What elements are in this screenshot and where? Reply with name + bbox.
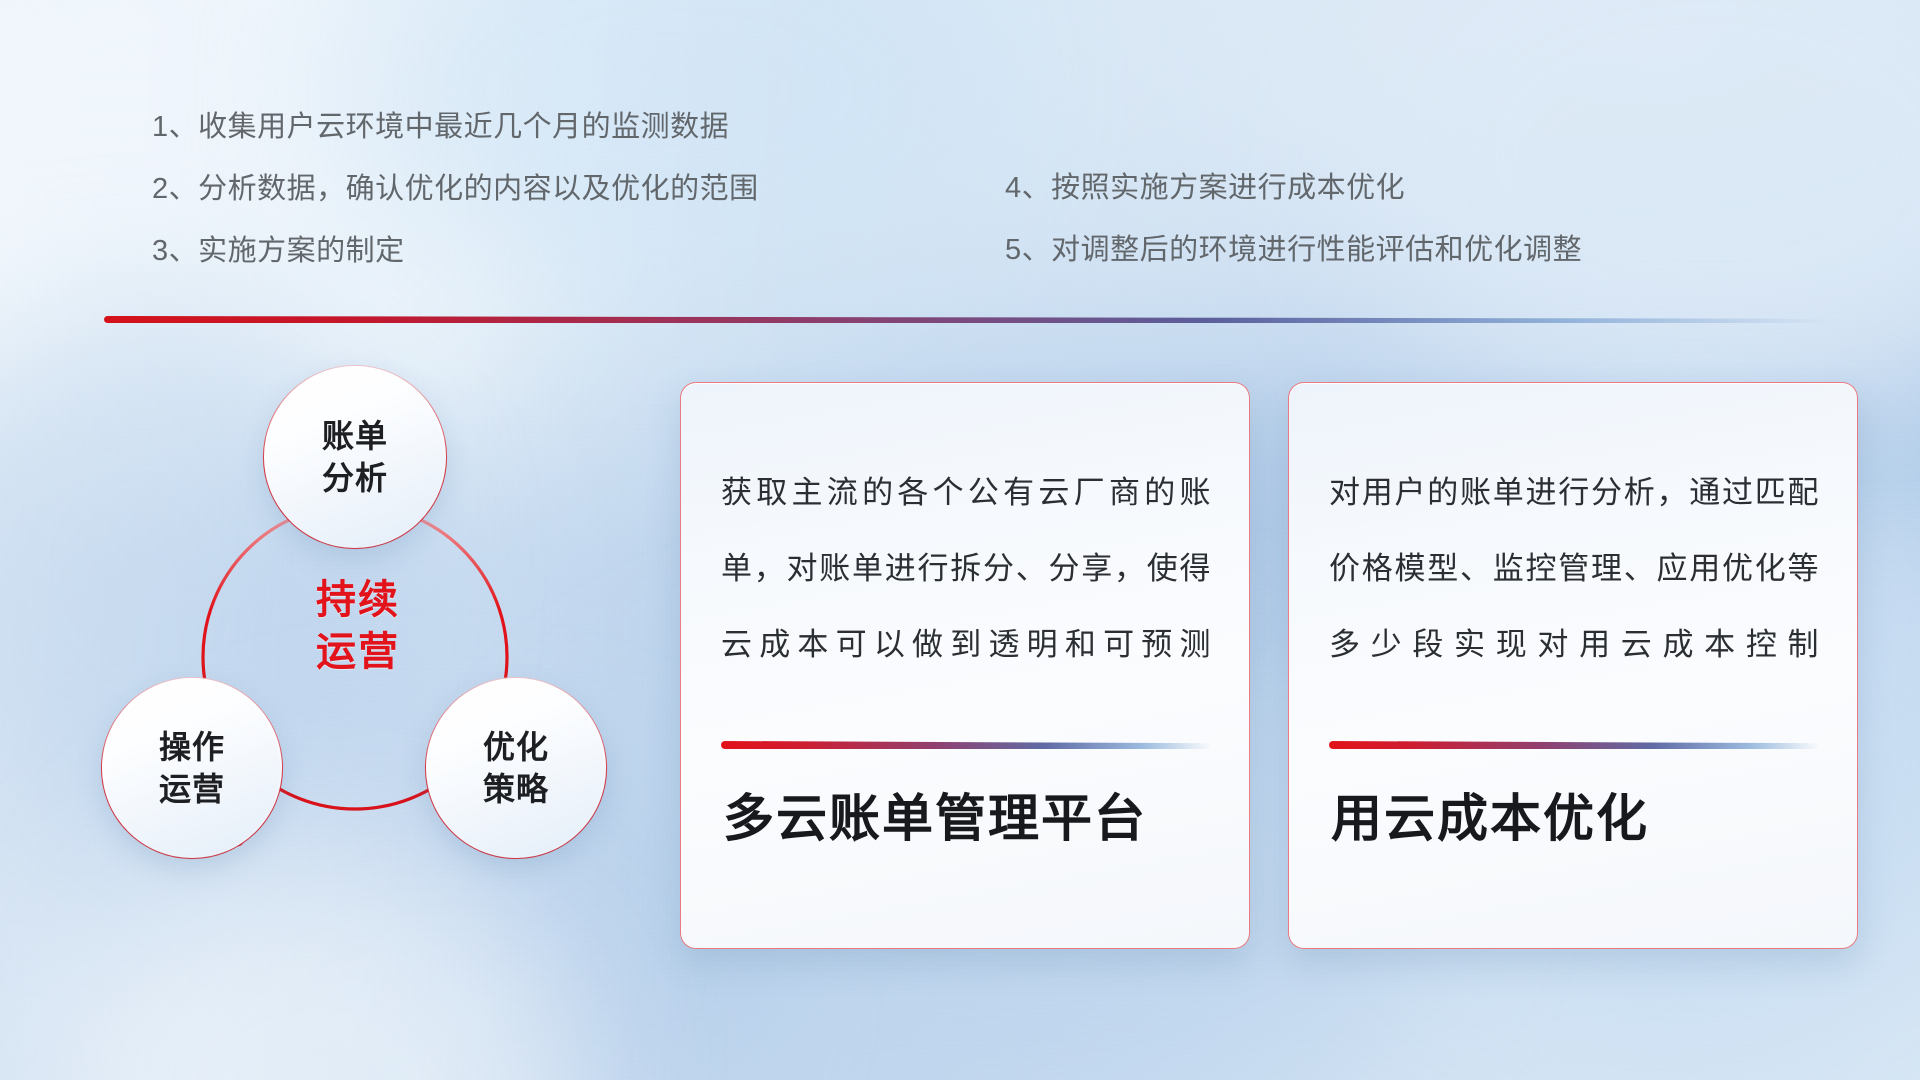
venn-center-label-line2: 运营 xyxy=(268,626,448,678)
card-title: 多云账单管理平台 xyxy=(723,783,1219,855)
card-accent-line xyxy=(721,741,1211,749)
step-item: 5、对调整后的环境进行性能评估和优化调整 xyxy=(1005,219,1582,281)
step-item: 4、按照实施方案进行成本优化 xyxy=(1005,157,1582,219)
card-title: 用云成本优化 xyxy=(1331,783,1827,855)
steps-right-column: 4、按照实施方案进行成本优化 5、对调整后的环境进行性能评估和优化调整 xyxy=(1005,157,1582,281)
step-item: 2、分析数据，确认优化的内容以及优化的范围 xyxy=(152,158,759,220)
venn-bubble-label-line2: 运营 xyxy=(159,768,225,810)
feature-card-cost-optimization[interactable]: 对用户的账单进行分析，通过匹配价格模型、监控管理、应用优化等多少段实现对用云成本… xyxy=(1288,382,1858,949)
venn-bubble-label-line2: 分析 xyxy=(322,457,388,499)
steps-left-column: 1、收集用户云环境中最近几个月的监测数据 2、分析数据，确认优化的内容以及优化的… xyxy=(152,96,759,282)
venn-diagram: 账单 分析 操作 运营 优化 策略 持续 运营 xyxy=(96,348,656,948)
venn-center-label: 持续 运营 xyxy=(268,574,448,678)
step-item: 3、实施方案的制定 xyxy=(152,220,759,282)
venn-bubble-optimization-strategy[interactable]: 优化 策略 xyxy=(426,678,606,858)
venn-bubble-billing-analysis[interactable]: 账单 分析 xyxy=(264,366,446,548)
venn-center-label-line1: 持续 xyxy=(268,574,448,626)
venn-bubble-label-line1: 优化 xyxy=(483,726,549,768)
feature-card-multicloud-billing[interactable]: 获取主流的各个公有云厂商的账单，对账单进行拆分、分享，使得云成本可以做到透明和可… xyxy=(680,382,1250,949)
card-body-text: 获取主流的各个公有云厂商的账单，对账单进行拆分、分享，使得云成本可以做到透明和可… xyxy=(721,455,1211,683)
card-accent-line xyxy=(1329,741,1819,749)
card-body-text: 对用户的账单进行分析，通过匹配价格模型、监控管理、应用优化等多少段实现对用云成本… xyxy=(1329,455,1819,683)
venn-bubble-operations[interactable]: 操作 运营 xyxy=(102,678,282,858)
venn-bubble-label-line1: 账单 xyxy=(322,415,388,457)
venn-bubble-label-line1: 操作 xyxy=(159,726,225,768)
step-item: 1、收集用户云环境中最近几个月的监测数据 xyxy=(152,96,759,158)
venn-bubble-label-line2: 策略 xyxy=(483,768,549,810)
